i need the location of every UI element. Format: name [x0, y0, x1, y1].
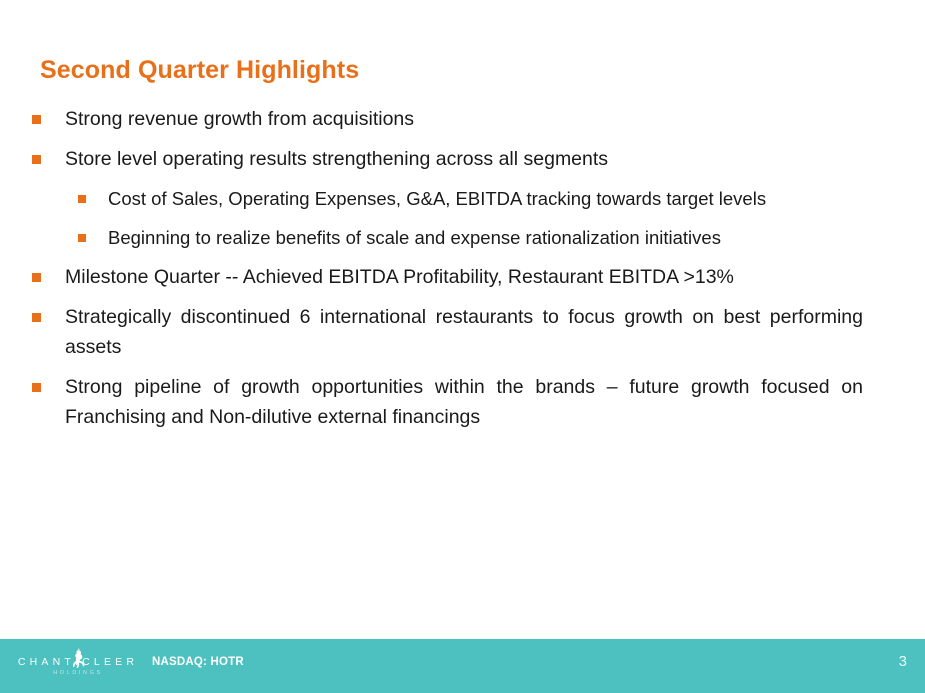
logo-subtitle: HOLDINGS [16, 670, 140, 676]
sub-bullet-text: Beginning to realize benefits of scale a… [108, 223, 863, 252]
page-title: Second Quarter Highlights [40, 56, 359, 85]
bullet-square-icon [32, 383, 41, 392]
sub-bullet-text: Cost of Sales, Operating Expenses, G&A, … [108, 184, 863, 213]
slide-body: Strong revenue growth from acquisitions … [0, 104, 925, 442]
company-logo: CHANTICLEER HOLDINGS [16, 648, 140, 682]
bullet-square-icon [32, 273, 41, 282]
presentation-slide: Second Quarter Highlights Strong revenue… [0, 0, 925, 693]
page-number: 3 [899, 653, 907, 670]
rooster-icon [68, 647, 90, 669]
bullet-text: Strong revenue growth from acquisitions [65, 104, 863, 134]
sub-bullet-item: Beginning to realize benefits of scale a… [0, 223, 925, 252]
slide-footer: CHANTICLEER HOLDINGS NASDAQ: HOTR 3 [0, 639, 925, 693]
bullet-square-icon [78, 234, 86, 242]
bullet-text: Store level operating results strengthen… [65, 144, 863, 174]
bullet-item: Milestone Quarter -- Achieved EBITDA Pro… [0, 262, 925, 292]
bullet-square-icon [78, 195, 86, 203]
ticker-symbol: NASDAQ: HOTR [152, 656, 244, 668]
bullet-item: Strategically discontinued 6 internation… [0, 302, 925, 362]
bullet-square-icon [32, 155, 41, 164]
bullet-text: Strategically discontinued 6 internation… [65, 302, 863, 362]
bullet-text: Milestone Quarter -- Achieved EBITDA Pro… [65, 262, 863, 292]
bullet-item: Store level operating results strengthen… [0, 144, 925, 174]
bullet-item: Strong revenue growth from acquisitions [0, 104, 925, 134]
bullet-square-icon [32, 313, 41, 322]
bullet-text: Strong pipeline of growth opportunities … [65, 372, 863, 432]
sub-bullet-item: Cost of Sales, Operating Expenses, G&A, … [0, 184, 925, 213]
bullet-item: Strong pipeline of growth opportunities … [0, 372, 925, 432]
bullet-square-icon [32, 115, 41, 124]
